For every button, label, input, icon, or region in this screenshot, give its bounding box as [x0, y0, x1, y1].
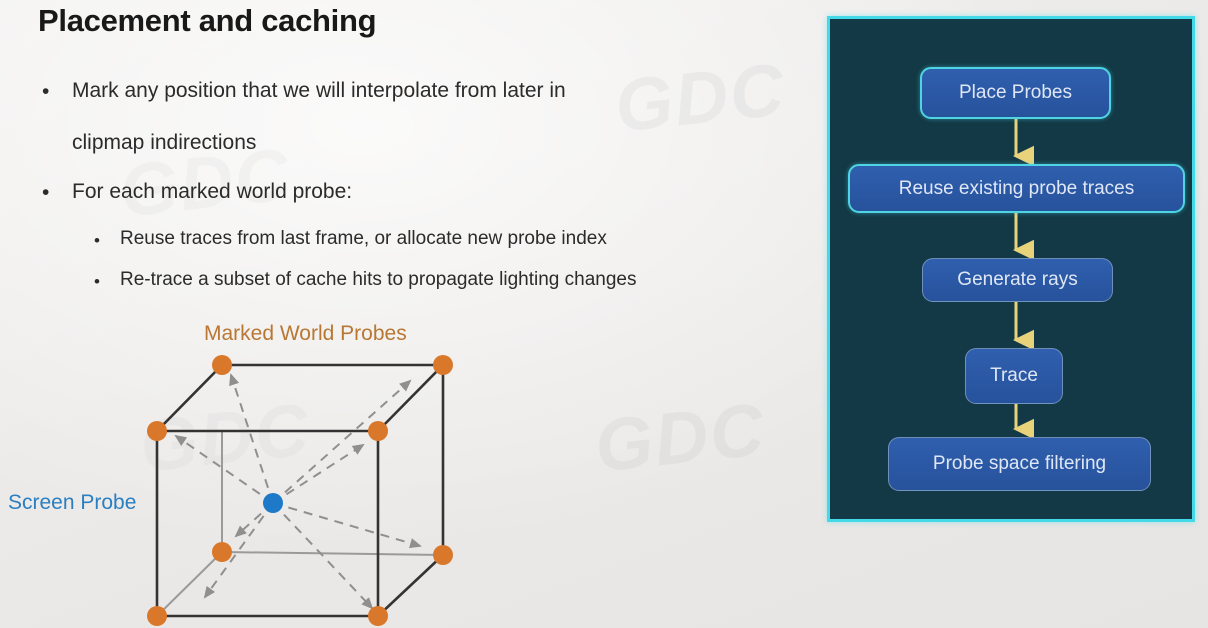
flowchart-panel: Place Probes Reuse existing probe traces… — [827, 16, 1195, 522]
probe-rays — [176, 375, 420, 608]
screen-probe-dot — [263, 493, 283, 513]
bullet-marker: • — [42, 79, 49, 105]
cube-hidden-edges — [157, 431, 443, 616]
bullet-item: • For each marked world probe: — [72, 179, 352, 205]
flow-step-label: Probe space filtering — [933, 453, 1106, 475]
watermark-text: GDC — [611, 46, 789, 148]
watermark-text: GDC — [591, 386, 769, 488]
flow-step-label: Reuse existing probe traces — [899, 178, 1135, 200]
flow-step-label: Generate rays — [957, 269, 1077, 291]
flow-step-probe-space-filtering[interactable]: Probe space filtering — [888, 437, 1151, 491]
flow-step-trace[interactable]: Trace — [965, 348, 1063, 404]
bullet-text: Mark any position that we will interpola… — [72, 79, 566, 102]
flow-step-label: Place Probes — [959, 82, 1072, 104]
flow-step-generate-rays[interactable]: Generate rays — [922, 258, 1113, 302]
slide-title: Placement and caching — [38, 3, 376, 39]
bullet-item: • Mark any position that we will interpo… — [72, 78, 566, 104]
bullet-marker: • — [94, 269, 100, 295]
bullet-marker: • — [94, 228, 100, 254]
flow-step-reuse-existing-probe-traces[interactable]: Reuse existing probe traces — [848, 164, 1185, 213]
bullet-text: Re-trace a subset of cache hits to propa… — [120, 269, 637, 290]
flow-step-label: Trace — [990, 365, 1038, 387]
bullet-marker: • — [42, 180, 49, 206]
presentation-slide: GDC GDC GDC GDC Placement and caching • … — [0, 0, 1208, 628]
bullet-text: clipmap indirections — [72, 131, 256, 154]
sub-bullet-item: • Re-trace a subset of cache hits to pro… — [120, 267, 637, 293]
bullet-text: For each marked world probe: — [72, 180, 352, 203]
cube-diagram — [0, 308, 520, 628]
bullet-item-continuation: clipmap indirections — [72, 130, 256, 156]
bullet-text: Reuse traces from last frame, or allocat… — [120, 228, 607, 249]
flow-step-place-probes[interactable]: Place Probes — [920, 67, 1111, 119]
sub-bullet-item: • Reuse traces from last frame, or alloc… — [120, 226, 607, 252]
cube-outer-edges — [157, 365, 443, 616]
